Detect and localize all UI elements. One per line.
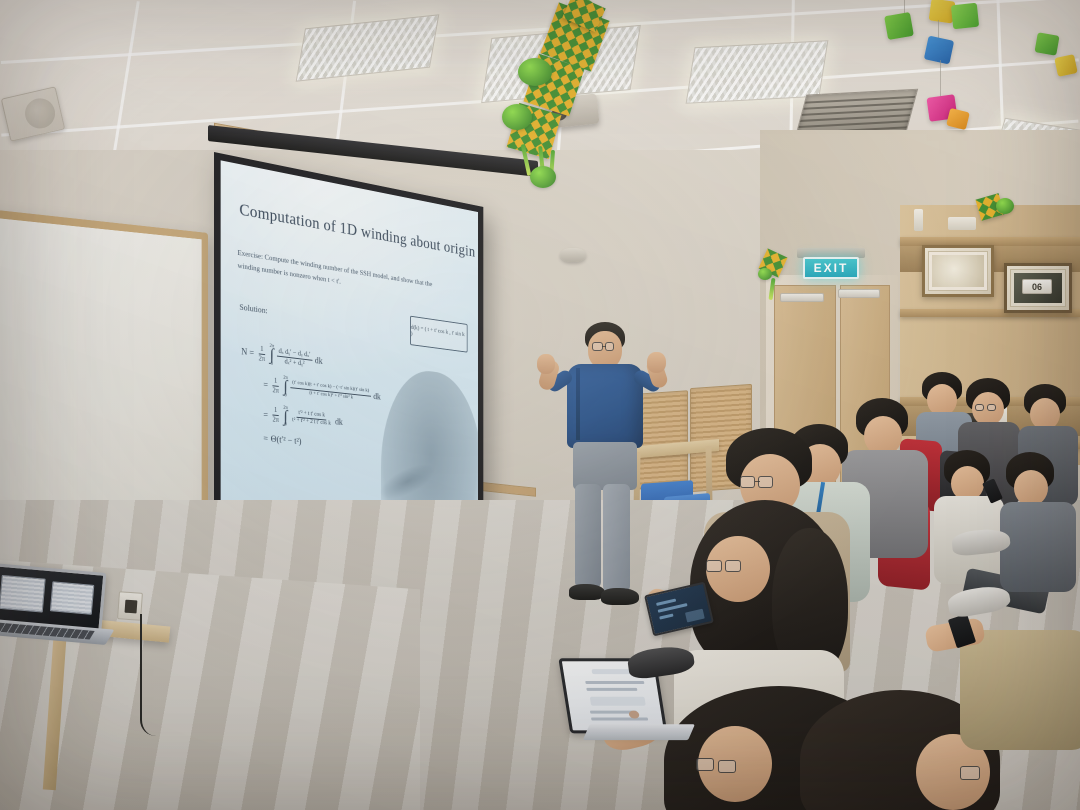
door-closer-right — [838, 289, 880, 298]
equation-3-fraction: t′² + t t′ cos k t² + t′² + 2 t t′ cos k — [290, 410, 332, 428]
presenter-leg-right — [603, 484, 630, 592]
presenter-hand-right — [647, 352, 666, 373]
framed-picture-left — [922, 245, 994, 297]
laptop-window-left — [0, 575, 46, 613]
shelf-object-white-a — [914, 209, 923, 231]
presenter-shoe-left — [569, 584, 605, 600]
equation-4-result: Θ(t′² − t²) — [271, 434, 302, 446]
ketupat-ribbon-shelf — [996, 198, 1014, 214]
decoration-string-right-3 — [940, 60, 941, 100]
door-closer-left — [780, 293, 824, 302]
laptop-window-right — [50, 581, 94, 615]
glasses-left — [740, 476, 755, 488]
equation-3-prefactor: 1 2π — [271, 407, 281, 424]
slide-equation-block: N = 1 2π 2π ∫ 0 dₓ dᵧ′ − dᵧ dₓ′ dₓ² + dᵧ… — [241, 340, 469, 467]
slide-title: Computation of 1D winding about origin — [239, 200, 464, 260]
glasses-left — [975, 404, 984, 411]
ketupat-flat-lime — [951, 3, 979, 30]
equation-1-fraction: dₓ dᵧ′ − dᵧ dₓ′ dₓ² + dᵧ² — [277, 348, 312, 369]
equation-2-prefactor: 1 2π — [271, 377, 281, 395]
torso — [1000, 502, 1076, 592]
equation-2-differential: dk — [373, 391, 380, 401]
presenter-shirt-placket — [576, 368, 580, 440]
glasses-right — [725, 560, 741, 572]
whiteboard — [0, 207, 208, 548]
equation-3-lhs: = — [263, 410, 268, 420]
torso — [960, 630, 1080, 750]
ketupat-ribbon-near-exit — [758, 268, 772, 280]
shelf-object-white-b — [948, 217, 976, 230]
presenter-arm-shadow — [376, 458, 438, 506]
smoke-detector — [560, 248, 586, 262]
room-number-plate: 06 — [1022, 279, 1052, 294]
glasses-right — [718, 760, 736, 773]
head — [1014, 470, 1048, 506]
equation-2-integral: 2π ∫ 0 — [283, 375, 287, 398]
equation-1-integral: 2π ∫ 0 — [270, 344, 275, 367]
equation-1-differential: dk — [315, 356, 323, 366]
slide-boxed-equation: d(k) = ( t + t' cos k , t' sin k ) — [410, 316, 467, 353]
ketupat-ribbon-bottom — [530, 166, 556, 188]
equation-1-prefactor: 1 2π — [257, 345, 267, 363]
glasses-left — [696, 758, 714, 771]
glasses-left — [706, 560, 722, 572]
power-cable — [140, 614, 162, 736]
equation-3-differential: dk — [335, 416, 343, 426]
slide-exercise-text: Exercise: Compute the winding number of … — [238, 247, 466, 308]
classroom-photo: Computation of 1D winding about origin E… — [0, 0, 1080, 810]
glasses-right — [758, 476, 773, 488]
ketupat-flat-topright-a — [1034, 32, 1059, 56]
slide-solution-label: Solution: — [239, 303, 267, 316]
presenter — [543, 322, 667, 618]
presenter-hand-left — [537, 354, 555, 374]
presenter-hips — [573, 442, 637, 490]
equation-4-lhs: = — [263, 433, 268, 443]
equation-2-lhs: = — [263, 380, 268, 390]
ketupat-flat-green — [884, 12, 914, 40]
ketupat-ribbon-lower — [502, 104, 532, 130]
equation-1-lhs: N = — [241, 347, 254, 358]
room-number-text: 06 — [1032, 282, 1042, 292]
presenter-shoe-right — [601, 588, 639, 605]
ketupat-flat-topright-b — [1054, 54, 1078, 77]
glasses-right — [987, 404, 996, 411]
presenter-leg-left — [575, 484, 601, 588]
glasses-bridge — [755, 481, 760, 482]
exit-sign: EXIT — [803, 257, 859, 279]
ketupat-ribbon-mid — [518, 58, 552, 86]
ketupat-flat-blue — [924, 36, 954, 65]
equation-2-fraction: (t′ cos k)(t + t′ cos k) − (−t′ sin k)(t… — [290, 381, 370, 403]
glasses-right — [960, 766, 980, 780]
presenter-glasses-right — [605, 342, 614, 351]
ceiling-light-panel-left — [296, 14, 440, 81]
equation-3-integral: 2π ∫ 0 — [283, 405, 287, 427]
laptop-front-keyboard[interactable] — [583, 724, 695, 740]
presenter-glasses-bridge — [602, 346, 606, 347]
